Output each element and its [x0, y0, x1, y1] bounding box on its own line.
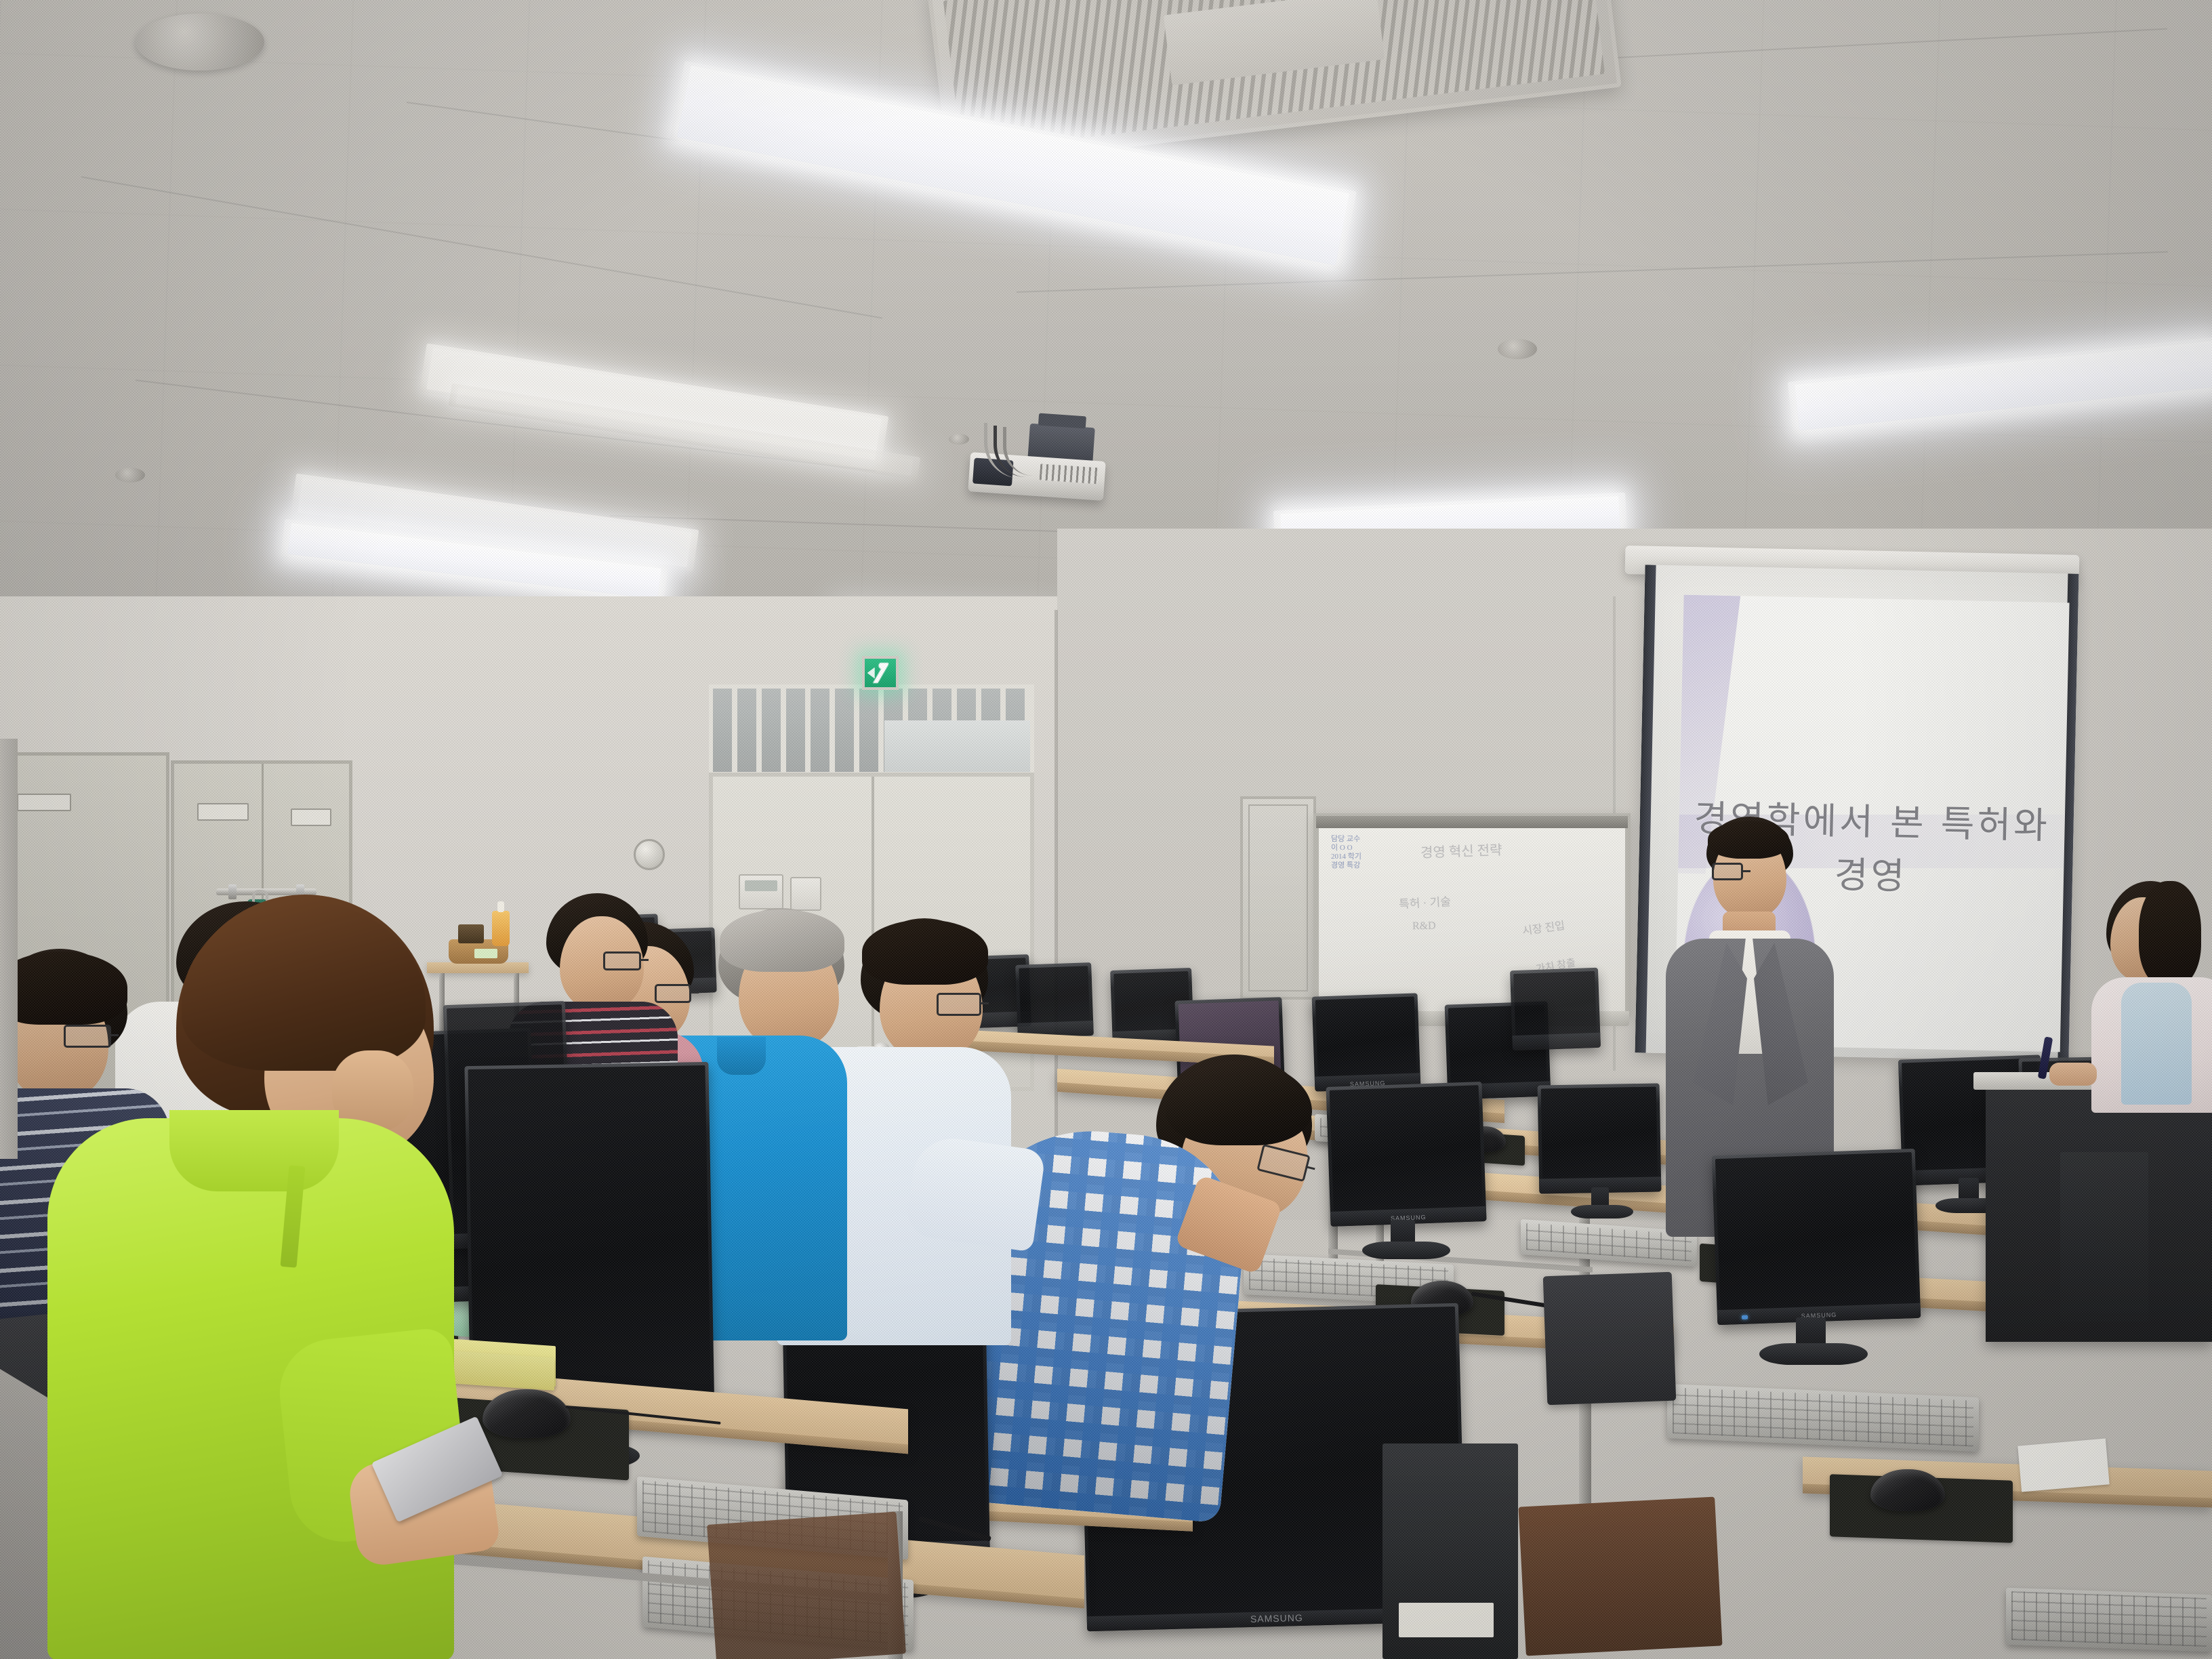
classroom-scene: 담당 교수 이 O O 2014 학기 경영 특강 경영 혁신 전략 특허 · … — [0, 0, 2212, 1659]
thermostat-display — [745, 880, 777, 891]
monitor-base — [1571, 1205, 1633, 1218]
glasses-icon — [1712, 863, 1743, 880]
chair[interactable] — [1518, 1497, 1722, 1656]
student-hair-top — [720, 909, 844, 972]
whiteboard-corner-note: 담당 교수 이 O O 2014 학기 경영 특강 — [1331, 835, 1361, 870]
running-person-icon — [872, 663, 888, 683]
smoke-detector-icon — [1498, 339, 1537, 359]
monitor — [1538, 1083, 1662, 1193]
projector-vents — [1040, 464, 1099, 484]
chair-back[interactable] — [1543, 1272, 1677, 1406]
monitor-power-led — [1742, 1315, 1748, 1319]
pc-sticker — [1399, 1603, 1494, 1637]
keyboard[interactable] — [2006, 1588, 2212, 1652]
electrical-panel[interactable] — [1240, 796, 1316, 1000]
polo-collar — [717, 1037, 766, 1075]
emergency-exit-sign — [862, 656, 899, 690]
whiteboard-top-frame — [1316, 816, 1628, 828]
ceiling-projector — [949, 420, 1132, 508]
whiteboard-note: 시장 진입 — [1521, 916, 1566, 939]
light-switch-panel[interactable] — [790, 877, 821, 911]
monitor-base — [1362, 1242, 1450, 1259]
cabinet-label — [17, 794, 71, 811]
assistant-hair-side — [2139, 881, 2201, 987]
monitor: SAMSUNG — [1326, 1082, 1486, 1227]
glasses-icon — [603, 951, 641, 970]
monitor-base — [1759, 1343, 1868, 1365]
presenter-hair-top — [1708, 821, 1789, 859]
whiteboard-note: 경영 혁신 전략 — [1420, 839, 1502, 861]
pc-tower — [1382, 1443, 1518, 1659]
glasses-icon — [937, 993, 981, 1016]
monitor: SAMSUNG — [1312, 993, 1421, 1091]
monitor: SAMSUNG — [1712, 1149, 1921, 1325]
thermostat[interactable] — [739, 874, 783, 909]
whiteboard-note: R&D — [1412, 920, 1436, 933]
student-green-polo — [61, 895, 495, 1659]
transom-glass-reflection — [884, 720, 1030, 772]
chair[interactable] — [707, 1511, 906, 1659]
fire-alarm-bell-icon — [634, 839, 665, 870]
pc-tower — [2060, 1152, 2148, 1322]
monitor-brand: SAMSUNG — [1250, 1612, 1303, 1624]
panel-door — [1248, 804, 1308, 991]
smoke-detector-icon — [115, 468, 145, 483]
paper-sheet — [2018, 1438, 2109, 1492]
assistant-top — [2121, 983, 2192, 1105]
student-arm — [904, 1134, 1046, 1252]
monitor — [1510, 968, 1601, 1050]
cabinet-label — [197, 803, 249, 821]
assistant-hand — [2049, 1063, 2097, 1086]
ceiling-speaker — [136, 14, 264, 70]
wall-pillar — [0, 739, 18, 1159]
keyboard[interactable] — [1667, 1384, 1979, 1452]
whiteboard-note: 특허 · 기술 — [1398, 892, 1451, 912]
door-transom-window — [709, 684, 1034, 776]
assistant-at-lectern — [2074, 881, 2212, 1105]
cabinet-label — [291, 808, 331, 826]
